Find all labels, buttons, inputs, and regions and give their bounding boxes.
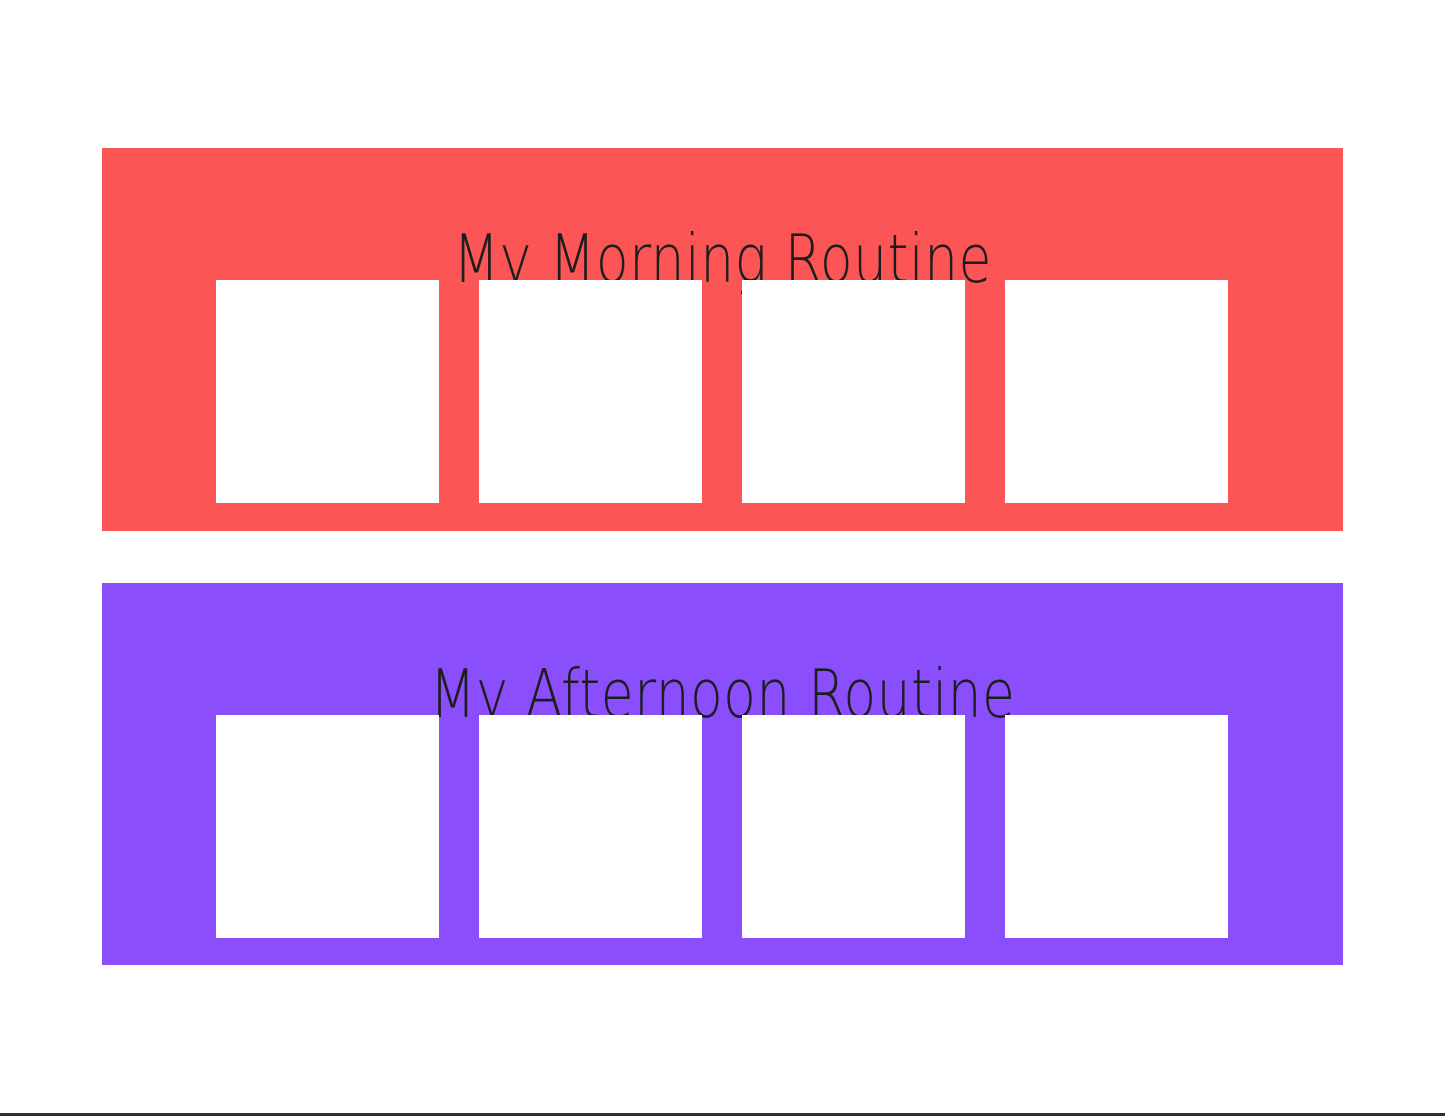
morning-routine-box-row <box>102 280 1343 503</box>
morning-routine-box-4[interactable] <box>1005 280 1228 503</box>
afternoon-routine-box-1[interactable] <box>216 715 439 938</box>
morning-routine-box-1[interactable] <box>216 280 439 503</box>
afternoon-routine-panel: My Afternoon Routine <box>102 583 1343 965</box>
afternoon-routine-box-row <box>102 715 1343 938</box>
afternoon-routine-box-2[interactable] <box>479 715 702 938</box>
afternoon-routine-box-3[interactable] <box>742 715 965 938</box>
page-bottom-rule <box>0 1113 1445 1116</box>
morning-routine-box-2[interactable] <box>479 280 702 503</box>
morning-routine-box-3[interactable] <box>742 280 965 503</box>
afternoon-routine-box-4[interactable] <box>1005 715 1228 938</box>
morning-routine-panel: My Morning Routine <box>102 148 1343 531</box>
routine-chart-page: My Morning Routine My Afternoon Routine <box>0 0 1445 1117</box>
